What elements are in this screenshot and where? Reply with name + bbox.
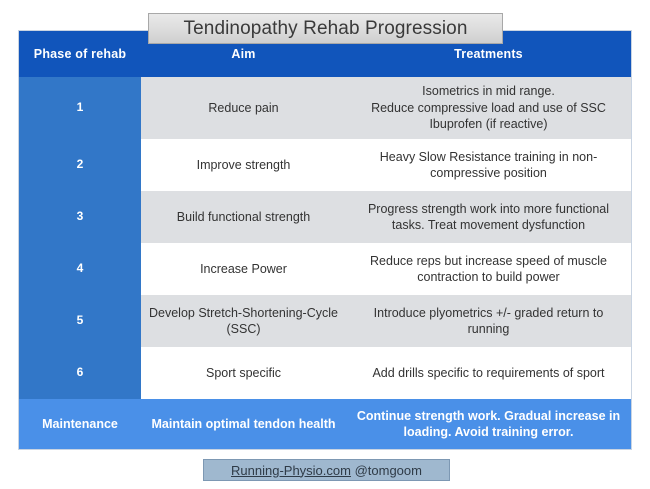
cell-aim: Build functional strength [141, 191, 346, 243]
cell-phase: 3 [19, 191, 141, 243]
slide-title-plaque: Tendinopathy Rehab Progression [148, 13, 503, 44]
cell-treatments: Reduce reps but increase speed of muscle… [346, 243, 631, 295]
table-row: 4 Increase Power Reduce reps but increas… [19, 243, 631, 295]
cell-treatments: Add drills specific to requirements of s… [346, 347, 631, 399]
table-row: 3 Build functional strength Progress str… [19, 191, 631, 243]
cell-aim: Develop Stretch-Shortening-Cycle (SSC) [141, 295, 346, 347]
cell-aim: Improve strength [141, 139, 346, 191]
footer-website-link[interactable]: Running-Physio.com [231, 463, 351, 478]
cell-phase: 4 [19, 243, 141, 295]
rehab-progression-table: Phase of rehab Aim Treatments 1 Reduce p… [18, 30, 632, 450]
column-header-phase: Phase of rehab [19, 31, 141, 77]
footer-twitter-handle: @tomgoom [351, 463, 422, 478]
cell-aim-maintenance: Maintain optimal tendon health [141, 399, 346, 449]
page-title: Tendinopathy Rehab Progression [184, 18, 468, 40]
cell-phase-maintenance: Maintenance [19, 399, 141, 449]
cell-phase: 5 [19, 295, 141, 347]
cell-treatments: Progress strength work into more functio… [346, 191, 631, 243]
cell-aim: Sport specific [141, 347, 346, 399]
table-row: 5 Develop Stretch-Shortening-Cycle (SSC)… [19, 295, 631, 347]
table-row: 2 Improve strength Heavy Slow Resistance… [19, 139, 631, 191]
cell-treatments: Introduce plyometrics +/- graded return … [346, 295, 631, 347]
cell-aim: Increase Power [141, 243, 346, 295]
cell-treatments-maintenance: Continue strength work. Gradual increase… [346, 399, 631, 449]
cell-treatments: Isometrics in mid range. Reduce compress… [346, 77, 631, 139]
table-row-maintenance: Maintenance Maintain optimal tendon heal… [19, 399, 631, 449]
footer-credit-plaque: Running-Physio.com @tomgoom [203, 459, 450, 481]
slide-canvas: Phase of rehab Aim Treatments 1 Reduce p… [0, 0, 650, 489]
cell-phase: 6 [19, 347, 141, 399]
table-row: 6 Sport specific Add drills specific to … [19, 347, 631, 399]
cell-phase: 1 [19, 77, 141, 139]
cell-treatments: Heavy Slow Resistance training in non-co… [346, 139, 631, 191]
cell-phase: 2 [19, 139, 141, 191]
footer-credit: Running-Physio.com @tomgoom [231, 463, 422, 478]
cell-aim: Reduce pain [141, 77, 346, 139]
table-row: 1 Reduce pain Isometrics in mid range. R… [19, 77, 631, 139]
